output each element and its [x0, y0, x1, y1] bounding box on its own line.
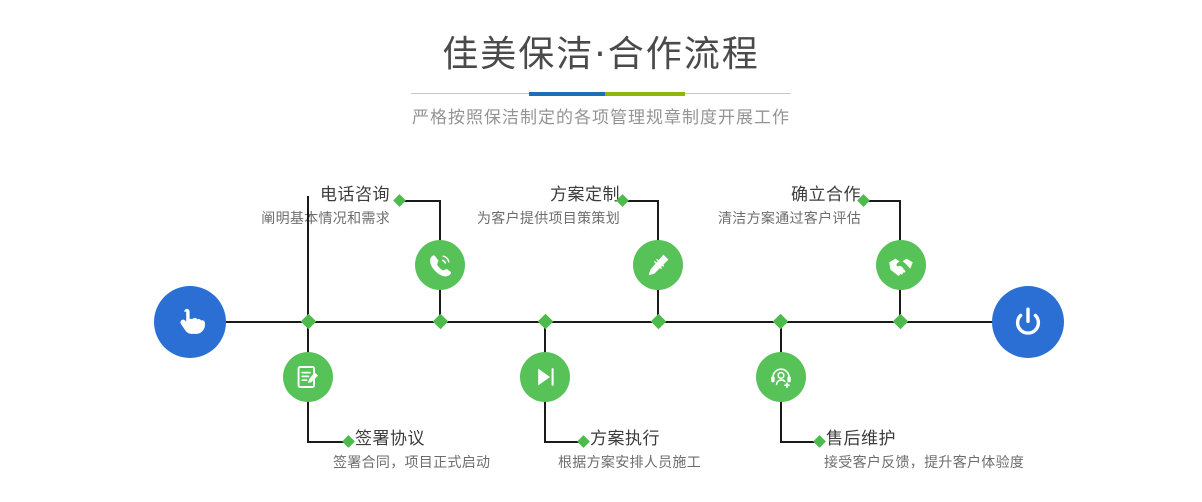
step-node-6 [756, 352, 806, 402]
step-desc-6: 接受客户反馈，提升客户体验度 [824, 453, 1024, 473]
timeline-marker-6 [893, 314, 909, 330]
step-label-3: 方案定制 为客户提供项目策策划 [477, 184, 620, 229]
step-title-6: 售后维护 [826, 428, 1024, 450]
step-node-4 [520, 352, 570, 402]
phone-call-icon [426, 251, 454, 279]
step-label-2: 签署协议 签署合同，项目正式启动 [355, 428, 490, 473]
step-desc-2: 签署合同，项目正式启动 [333, 453, 490, 473]
step-title-3: 方案定制 [477, 184, 620, 206]
step-title-5: 确立合作 [718, 184, 861, 206]
step-node-5 [876, 240, 926, 290]
timeline-marker-1 [301, 314, 317, 330]
branch-vline-1 [307, 196, 309, 322]
timeline-marker-4 [651, 314, 667, 330]
step-title-4: 方案执行 [590, 428, 701, 450]
step-desc-4: 根据方案安排人员施工 [558, 453, 701, 473]
power-icon [1008, 302, 1048, 342]
step-desc-1: 阐明基本情况和需求 [261, 209, 390, 229]
timeline-start-endpoint [154, 286, 226, 358]
connector-dot-step2 [342, 435, 355, 448]
timeline-marker-3 [538, 314, 554, 330]
step-title-1: 电话咨询 [261, 184, 390, 206]
handshake-icon [886, 250, 916, 280]
timeline-marker-5 [773, 314, 789, 330]
step-desc-3: 为客户提供项目策策划 [477, 209, 620, 229]
step-label-5: 确立合作 清洁方案通过客户评估 [718, 184, 861, 229]
customer-service-icon [768, 364, 794, 390]
connector-dot-step6 [813, 435, 826, 448]
step-node-1 [415, 240, 465, 290]
process-flow-infographic: 佳美保洁·合作流程 严格按照保洁制定的各项管理规章制度开展工作 [0, 0, 1202, 502]
step-node-3 [633, 240, 683, 290]
timeline: 电话咨询 阐明基本情况和需求 方案定制 为客户提供项目策策划 [0, 0, 1202, 502]
step-label-4: 方案执行 根据方案安排人员施工 [590, 428, 701, 473]
timeline-end-endpoint [992, 286, 1064, 358]
connector-dot-step1 [393, 194, 406, 207]
step-label-1: 电话咨询 阐明基本情况和需求 [261, 184, 390, 229]
document-edit-icon [295, 364, 321, 390]
connector-hline-step1 [400, 200, 441, 202]
connector-dot-step4 [577, 435, 590, 448]
step-desc-5: 清洁方案通过客户评估 [718, 209, 861, 229]
timeline-marker-2 [433, 314, 449, 330]
play-execute-icon [532, 364, 558, 390]
step-title-2: 签署协议 [355, 428, 490, 450]
pointing-hand-icon [170, 302, 210, 342]
pencil-ruler-icon [644, 251, 672, 279]
step-node-2 [283, 352, 333, 402]
step-label-6: 售后维护 接受客户反馈，提升客户体验度 [826, 428, 1024, 473]
